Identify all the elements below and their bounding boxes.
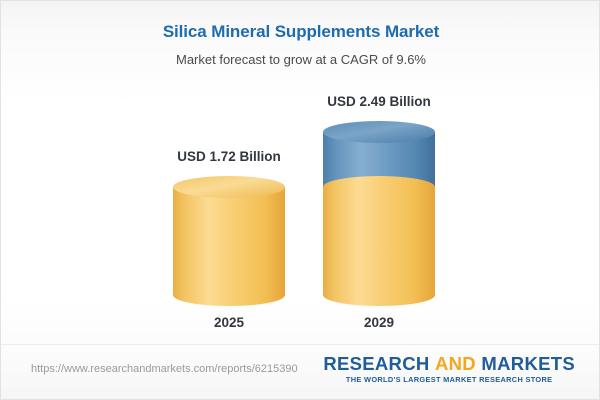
bar-value-label-2025: USD 1.72 Billion: [149, 148, 309, 166]
bar-value-label-2029: USD 2.49 Billion: [299, 93, 459, 111]
logo-tagline: THE WORLD'S LARGEST MARKET RESEARCH STOR…: [323, 375, 575, 385]
logo-word-markets: MARKETS: [481, 353, 575, 374]
logo-wordmark: RESEARCH AND MARKETS: [323, 353, 575, 374]
logo-word-and: AND: [435, 353, 476, 374]
market-infographic: Silica Mineral Supplements Market Market…: [0, 0, 600, 400]
research-and-markets-logo[interactable]: RESEARCH AND MARKETS THE WORLD'S LARGEST…: [323, 353, 575, 385]
bar-cylinder-2025[interactable]: [173, 176, 285, 306]
axis-label-2029: 2029: [299, 314, 459, 332]
cylinder-shape-2025: [173, 176, 285, 306]
footer: https://www.researchandmarkets.com/repor…: [1, 344, 599, 399]
chart-plot-area: USD 1.72 Billion: [1, 1, 600, 346]
bar-cylinder-2029[interactable]: [323, 121, 435, 306]
report-url-link[interactable]: https://www.researchandmarkets.com/repor…: [31, 362, 298, 376]
logo-word-research: RESEARCH: [323, 353, 429, 374]
cylinder-shape-2029: [323, 121, 435, 306]
axis-label-2025: 2025: [149, 314, 309, 332]
